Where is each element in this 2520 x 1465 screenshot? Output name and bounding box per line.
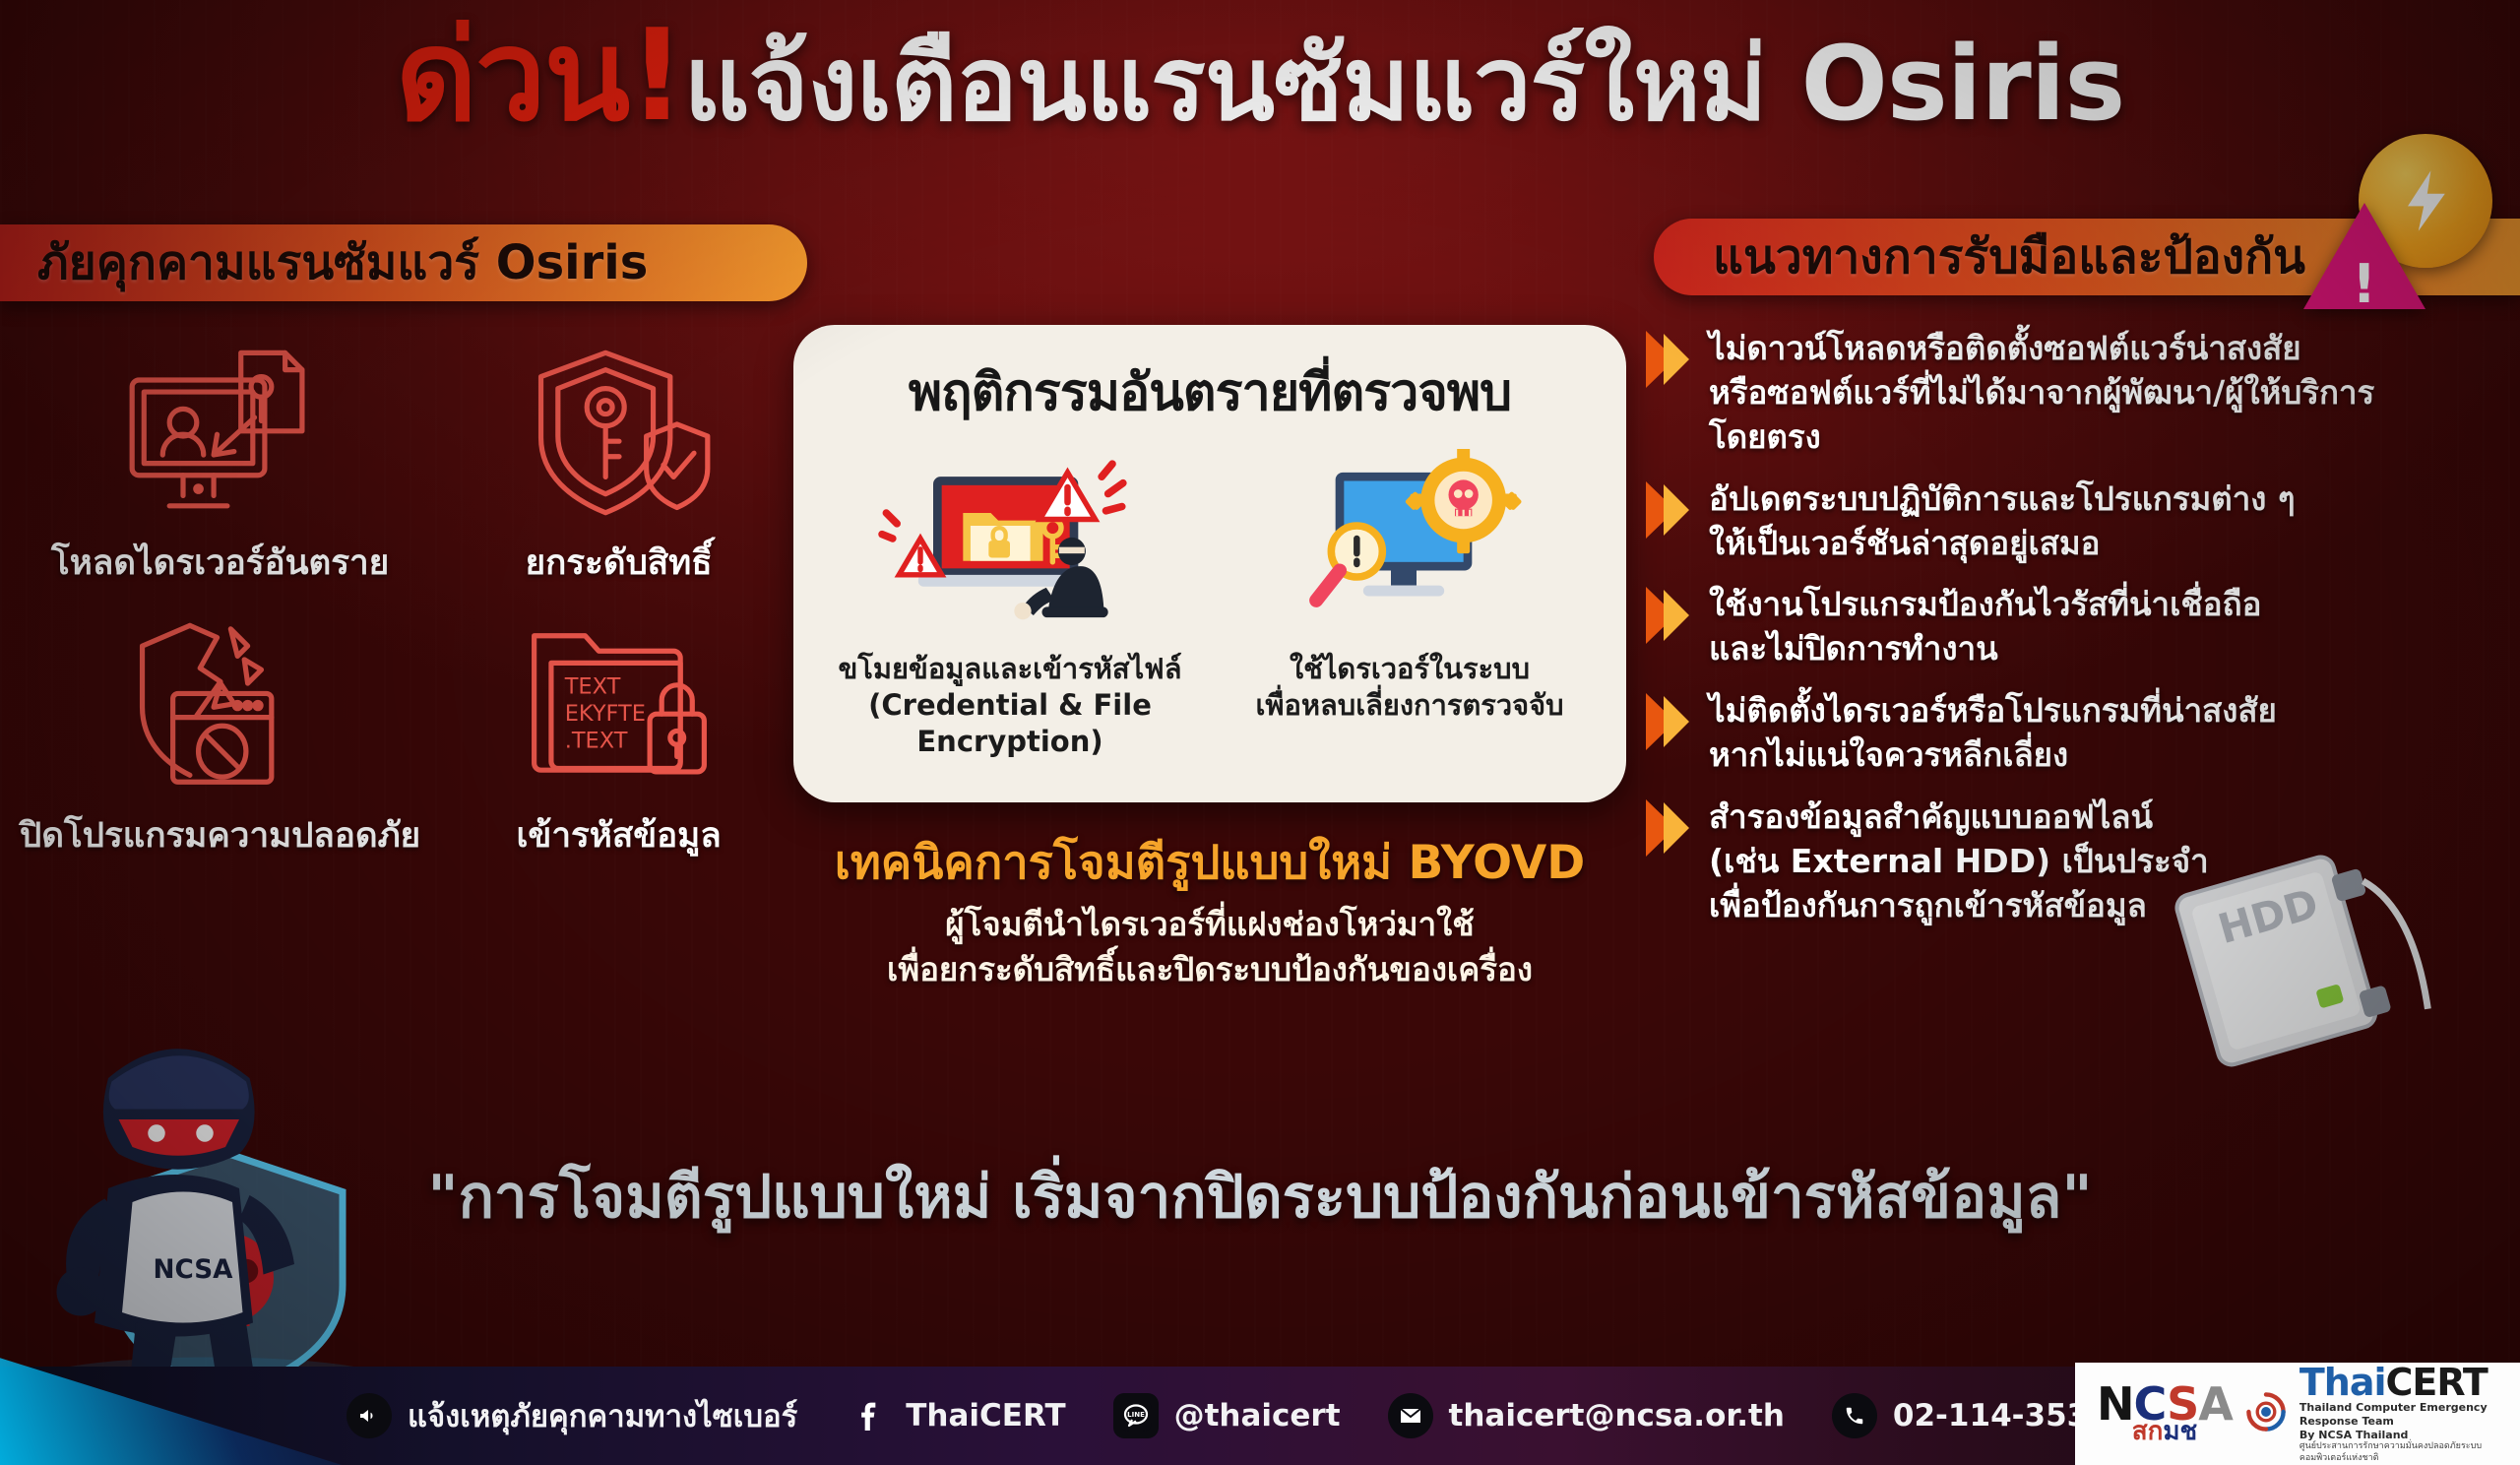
thaicert-subtitle-line3: ศูนย์ประสานการรักษาความมั่นคงปลอดภัยระบบ… bbox=[2299, 1441, 2508, 1464]
title-urgent-text: ด่วน! bbox=[396, 14, 684, 140]
advice-item: ไม่ดาวน์โหลดหรือติดตั้งซอฟต์แวร์น่าสงสัย… bbox=[1646, 327, 2492, 460]
advice-line: (เช่น External HDD) เป็นประจำ bbox=[1709, 840, 2209, 884]
svg-text:TEXT: TEXT bbox=[563, 673, 620, 699]
advice-text: อัปเดตระบบปฏิบัติการและโปรแกรมต่าง ๆ ให้… bbox=[1709, 478, 2296, 566]
threat-item: ปิดโปรแกรมความปลอดภัย bbox=[20, 615, 420, 862]
title-main-text: แจ้งเตือนแรนซัมแวร์ใหม่ Osiris bbox=[684, 28, 2125, 140]
advice-line: โดยตรง bbox=[1709, 415, 2374, 460]
card-caption: ใช้ไดรเวอร์ในระบบ เพื่อหลบเลี่ยงการตรวจจ… bbox=[1255, 651, 1563, 724]
card-caption-line1: ใช้ไดรเวอร์ในระบบ bbox=[1255, 651, 1563, 687]
svg-text:LINE: LINE bbox=[1127, 1411, 1145, 1419]
monitor-gear-skull-magnifier-icon bbox=[1280, 446, 1541, 643]
advice-item: ใช้งานโปรแกรมป้องกันไวรัสที่น่าเชื่อถือ … bbox=[1646, 583, 2492, 671]
thaicert-word-cert: CERT bbox=[2386, 1361, 2488, 1404]
threat-label: ยกระดับสิทธิ์ bbox=[526, 536, 713, 590]
card-caption-line2: (Credential & File Encryption) bbox=[815, 687, 1205, 760]
footer-contact-email[interactable]: thaicert@ncsa.or.th bbox=[1388, 1393, 1785, 1438]
advice-line: ใช้งานโปรแกรมป้องกันไวรัสที่น่าเชื่อถือ bbox=[1709, 583, 2261, 627]
organization-logos: NCSA สกมช ThaiCERT bbox=[2075, 1363, 2520, 1465]
advice-line: ให้เป็นเวอร์ชันล่าสุดอยู่เสมอ bbox=[1709, 522, 2296, 566]
ncsa-thai-part1: สก bbox=[2132, 1417, 2164, 1446]
footer-bar: แจ้งเหตุภัยคุกคามทางไซเบอร์ ThaiCERT LIN… bbox=[0, 1367, 2520, 1465]
shield-key-privilege-icon bbox=[516, 343, 723, 530]
thaicert-subtitle-line2: By NCSA Thailand bbox=[2299, 1429, 2508, 1442]
card-caption: ขโมยข้อมูลและเข้ารหัสไฟล์ (Credential & … bbox=[815, 651, 1205, 760]
thaicert-mark-icon bbox=[2244, 1390, 2288, 1437]
footer-contact-facebook[interactable]: ThaiCERT bbox=[845, 1393, 1065, 1438]
chevron-right-icon bbox=[1646, 693, 1689, 750]
threat-grid: โหลดไดรเวอร์อันตราย ยกระดับสิทธิ์ bbox=[20, 343, 807, 862]
advice-text: ใช้งานโปรแกรมป้องกันไวรัสที่น่าเชื่อถือ … bbox=[1709, 583, 2261, 671]
thaicert-subtitle: Thailand Computer Emergency Response Tea… bbox=[2299, 1401, 2508, 1464]
chevron-right-icon bbox=[1646, 331, 1689, 388]
ncsa-thai-part2: มช bbox=[2163, 1417, 2197, 1446]
footer-contact-label: ThaiCERT bbox=[906, 1398, 1065, 1433]
card-body: ขโมยข้อมูลและเข้ารหัสไฟล์ (Credential & … bbox=[815, 446, 1605, 760]
threat-item: โหลดไดรเวอร์อันตราย bbox=[20, 343, 420, 590]
ncsa-letter-a: A bbox=[2198, 1377, 2233, 1431]
footer-contact-phone[interactable]: 02-114-3531 bbox=[1832, 1393, 2110, 1438]
laptop-ransomware-thief-icon bbox=[862, 446, 1158, 643]
line-icon: LINE bbox=[1113, 1393, 1159, 1438]
left-section-header-label: ภัยคุกคามแรนซัมแวร์ Osiris bbox=[37, 225, 648, 300]
ncsa-logo: NCSA สกมช bbox=[2097, 1384, 2233, 1444]
chevron-right-icon bbox=[1646, 587, 1689, 644]
ncsa-mascot: NCSA bbox=[0, 988, 423, 1402]
chevron-right-icon bbox=[1646, 799, 1689, 857]
infographic-poster: ด่วน! แจ้งเตือนแรนซัมแวร์ใหม่ Osiris ภัย… bbox=[0, 0, 2520, 1465]
advice-line: เพื่อป้องกันการถูกเข้ารหัสข้อมูล bbox=[1709, 884, 2209, 928]
footer-contact-line[interactable]: LINE @thaicert bbox=[1113, 1393, 1341, 1438]
advice-line: อัปเดตระบบปฏิบัติการและโปรแกรมต่าง ๆ bbox=[1709, 478, 2296, 522]
card-caption-line2: เพื่อหลบเลี่ยงการตรวจจับ bbox=[1255, 687, 1563, 724]
chevron-right-icon bbox=[1646, 481, 1689, 539]
facebook-icon bbox=[845, 1393, 890, 1438]
detected-behaviour-card: พฤติกรรมอันตรายที่ตรวจพบ bbox=[793, 325, 1626, 802]
advice-item: อัปเดตระบบปฏิบัติการและโปรแกรมต่าง ๆ ให้… bbox=[1646, 478, 2492, 566]
byovd-line2: เพื่อยกระดับสิทธิ์และปิดระบบป้องกันของเค… bbox=[764, 947, 1656, 992]
folder-lock-encryption-icon: TEXT EKYFTE .TEXT bbox=[516, 615, 723, 802]
byovd-title: เทคนิคการโจมตีรูปแบบใหม่ BYOVD bbox=[793, 825, 1626, 899]
page-title: ด่วน! แจ้งเตือนแรนซัมแวร์ใหม่ Osiris bbox=[0, 14, 2520, 140]
warning-exclamation-glyph: ! bbox=[2352, 258, 2376, 311]
advice-line: และไม่ปิดการทำงาน bbox=[1709, 627, 2261, 671]
email-icon bbox=[1388, 1393, 1433, 1438]
advice-item: ไม่ติดตั้งไดรเวอร์หรือโปรแกรมที่น่าสงสัย… bbox=[1646, 689, 2492, 778]
thaicert-wordmark: ThaiCERT bbox=[2299, 1364, 2508, 1401]
right-section-header-label: แนวทางการรับมือและป้องกัน bbox=[1713, 220, 2305, 294]
advice-line: ไม่ดาวน์โหลดหรือติดตั้งซอฟต์แวร์น่าสงสัย bbox=[1709, 327, 2374, 371]
footer-contact-label: @thaicert bbox=[1174, 1398, 1341, 1433]
card-column: ขโมยข้อมูลและเข้ารหัสไฟล์ (Credential & … bbox=[815, 446, 1205, 760]
threat-item: ยกระดับสิทธิ์ bbox=[430, 343, 807, 590]
advice-line: หรือซอฟต์แวร์ที่ไม่ได้มาจากผู้พัฒนา/ผู้ใ… bbox=[1709, 371, 2374, 415]
footer-contact-label: แจ้งเหตุภัยคุกคามทางไซเบอร์ bbox=[408, 1391, 797, 1440]
megaphone-icon bbox=[346, 1393, 392, 1438]
footer-contact-report[interactable]: แจ้งเหตุภัยคุกคามทางไซเบอร์ bbox=[346, 1391, 797, 1440]
thaicert-word-thai: Thai bbox=[2299, 1361, 2386, 1404]
ncsa-letter-n: N bbox=[2097, 1377, 2134, 1431]
threat-item: TEXT EKYFTE .TEXT เข้ารหัสข้อมูล bbox=[430, 615, 807, 862]
byovd-description: ผู้โจมตีนำไดรเวอร์ที่แฝงช่องโหว่มาใช้ เพ… bbox=[764, 902, 1656, 991]
thaicert-logo: ThaiCERT Thailand Computer Emergency Res… bbox=[2299, 1364, 2508, 1464]
advice-line: หากไม่แน่ใจควรหลีกเลี่ยง bbox=[1709, 733, 2277, 778]
left-section-header: ภัยคุกคามแรนซัมแวร์ Osiris bbox=[0, 224, 807, 301]
phone-icon bbox=[1832, 1393, 1877, 1438]
byovd-line1: ผู้โจมตีนำไดรเวอร์ที่แฝงช่องโหว่มาใช้ bbox=[764, 902, 1656, 947]
threat-label: เข้ารหัสข้อมูล bbox=[516, 808, 721, 862]
svg-text:EKYFTE: EKYFTE bbox=[564, 701, 645, 727]
advice-text: ไม่ดาวน์โหลดหรือติดตั้งซอฟต์แวร์น่าสงสัย… bbox=[1709, 327, 2374, 460]
advice-line: ไม่ติดตั้งไดรเวอร์หรือโปรแกรมที่น่าสงสัย bbox=[1709, 689, 2277, 733]
ncsa-logo-thai: สกมช bbox=[2132, 1421, 2197, 1443]
threat-label: ปิดโปรแกรมความปลอดภัย bbox=[20, 808, 420, 862]
card-title: พฤติกรรมอันตรายที่ตรวจพบ bbox=[815, 350, 1605, 432]
svg-text:.TEXT: .TEXT bbox=[564, 729, 627, 754]
advice-text: ไม่ติดตั้งไดรเวอร์หรือโปรแกรมที่น่าสงสัย… bbox=[1709, 689, 2277, 778]
broken-shield-blocked-window-icon bbox=[117, 615, 324, 802]
advice-text: สำรองข้อมูลสำคัญแบบออฟไลน์ (เช่น Externa… bbox=[1709, 796, 2209, 928]
threat-label: โหลดไดรเวอร์อันตราย bbox=[51, 536, 389, 590]
thaicert-subtitle-line1: Thailand Computer Emergency Response Tea… bbox=[2299, 1401, 2508, 1429]
svg-text:NCSA: NCSA bbox=[154, 1255, 234, 1285]
footer-contact-list: แจ้งเหตุภัยคุกคามทางไซเบอร์ ThaiCERT LIN… bbox=[346, 1391, 2110, 1440]
card-caption-line1: ขโมยข้อมูลและเข้ารหัสไฟล์ bbox=[815, 651, 1205, 687]
card-column: ใช้ไดรเวอร์ในระบบ เพื่อหลบเลี่ยงการตรวจจ… bbox=[1215, 446, 1605, 760]
advice-line: สำรองข้อมูลสำคัญแบบออฟไลน์ bbox=[1709, 796, 2209, 840]
monitor-driver-download-icon bbox=[117, 343, 324, 530]
footer-contact-label: thaicert@ncsa.or.th bbox=[1449, 1398, 1785, 1433]
